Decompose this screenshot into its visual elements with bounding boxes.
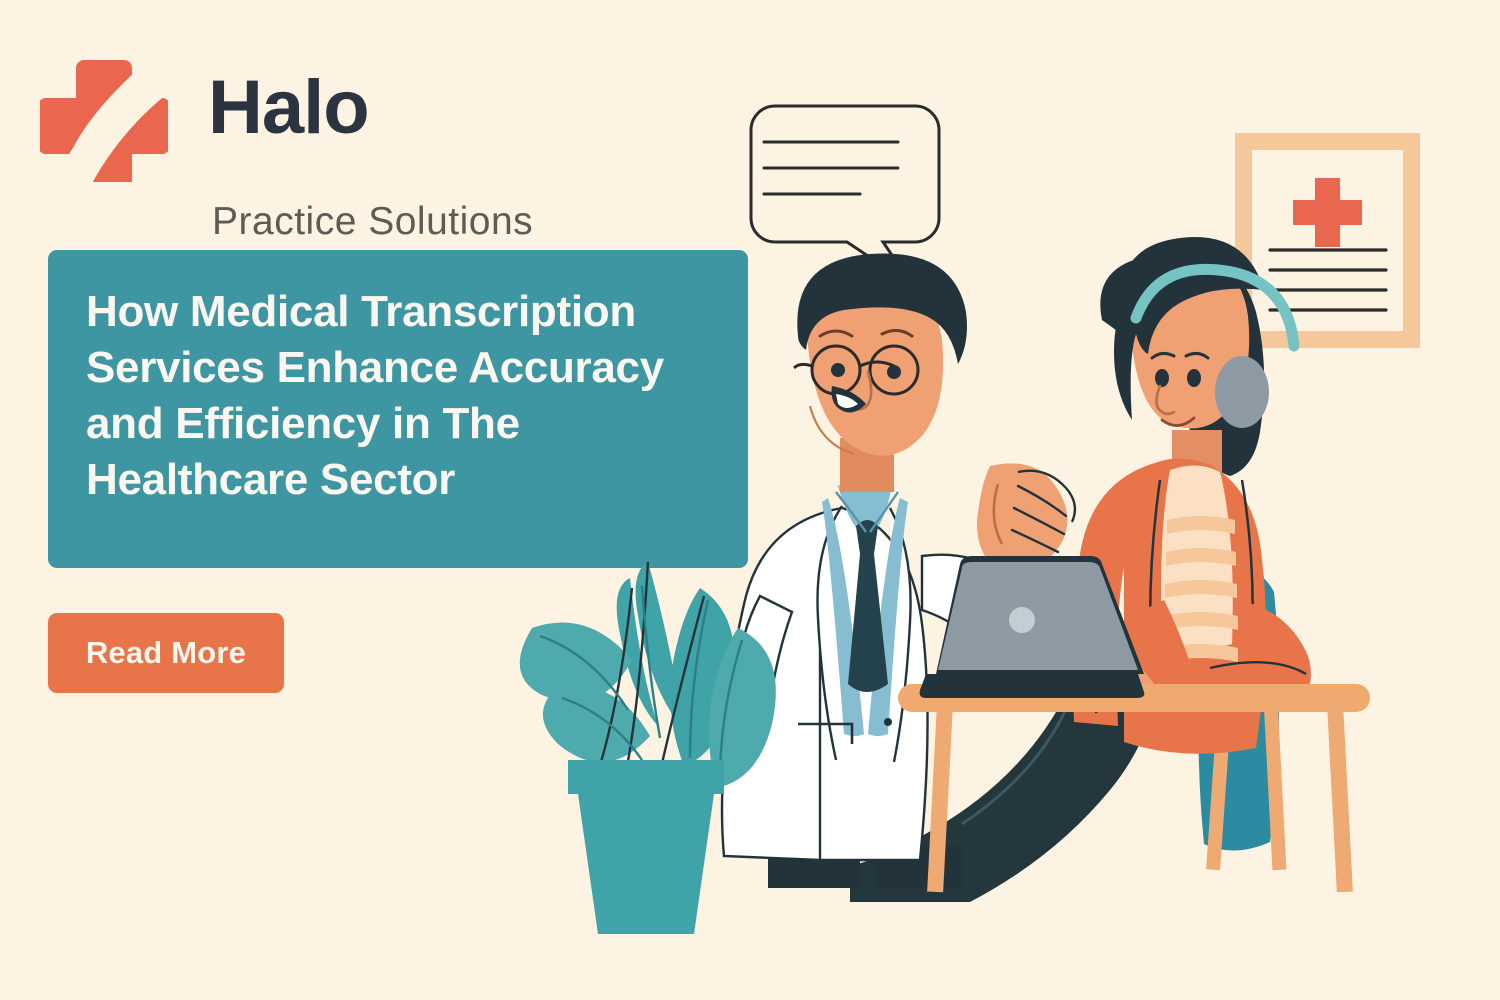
medical-poster-graphic — [1235, 133, 1420, 348]
poster-canvas: Halo Practice Solutions How Medical Tran… — [0, 0, 1500, 1000]
medical-cross-slash-icon — [40, 54, 168, 182]
hero-illustration — [470, 0, 1500, 1000]
brand-wordmark: Halo — [208, 70, 369, 146]
potted-plant-graphic — [520, 562, 776, 934]
read-more-button[interactable]: Read More — [48, 613, 284, 693]
